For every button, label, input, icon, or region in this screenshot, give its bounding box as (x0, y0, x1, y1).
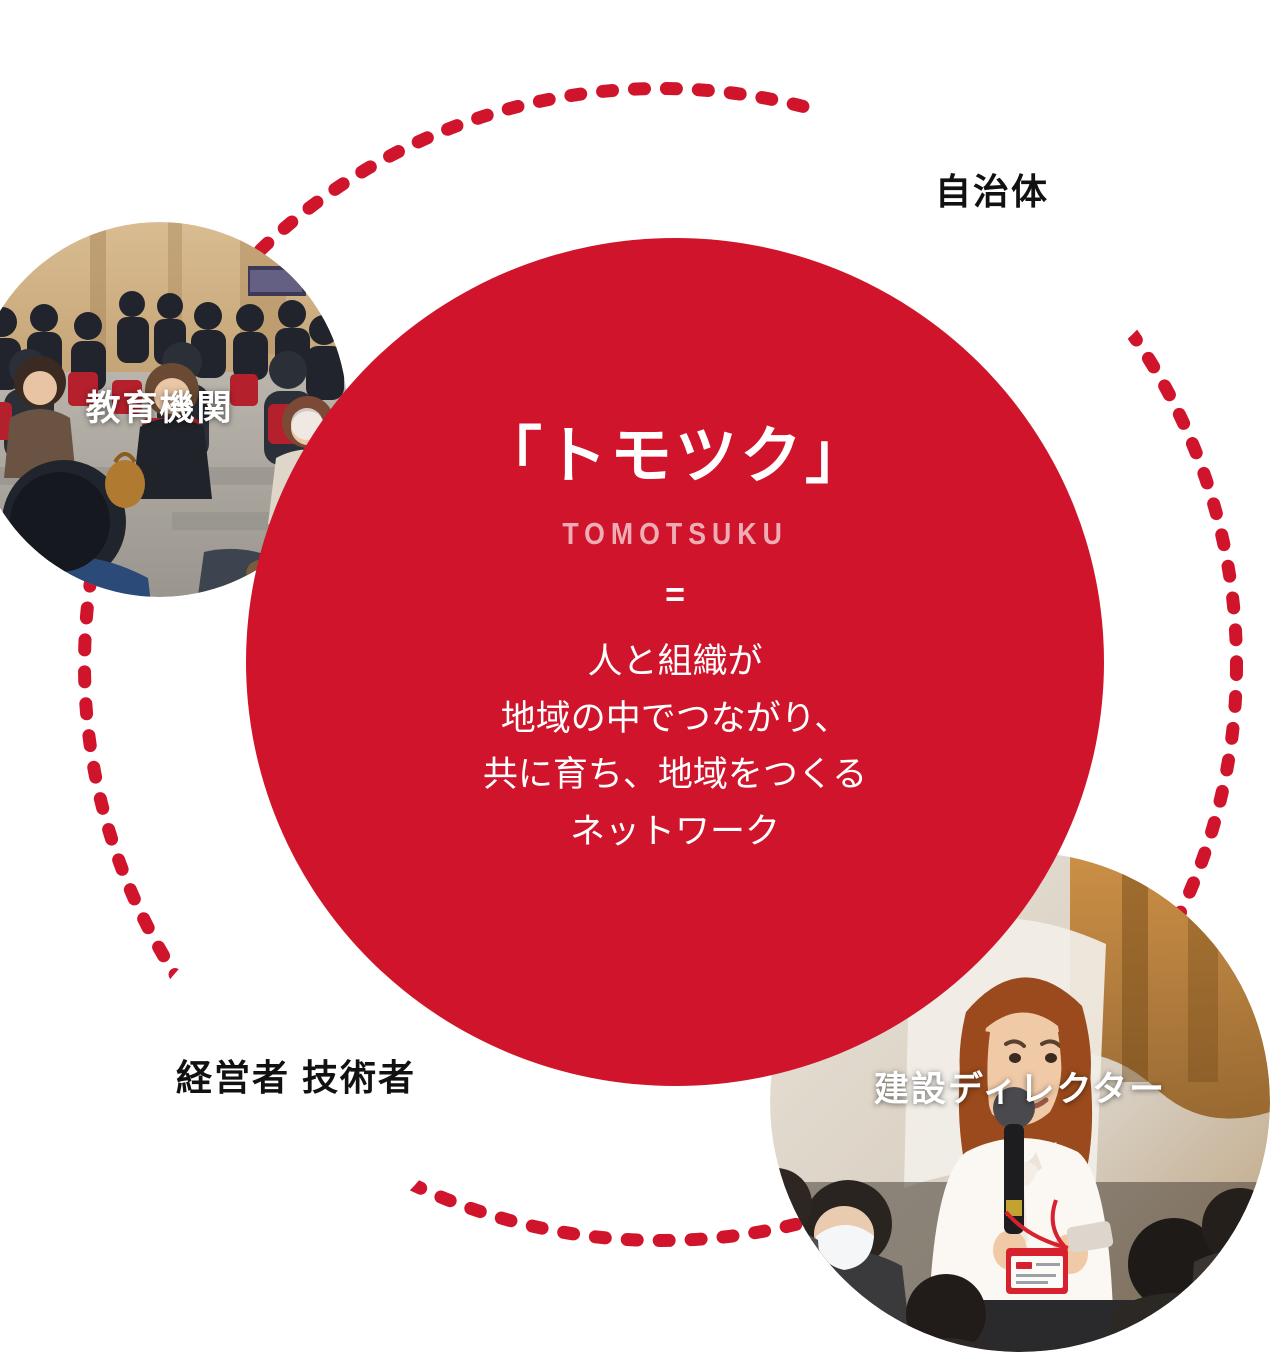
main-concept-circle: 「トモツク」 TOMOTSUKU = 人と組織が 地域の中でつながり、 共に育ち… (246, 238, 1104, 1086)
node-label-keieisha-line1: 経営者 (176, 1057, 290, 1098)
concept-description-line-1: 人と組織が (483, 634, 867, 691)
tomotsuku-network-diagram: 自治体 経営者 技術者 (0, 0, 1270, 1358)
node-label-keieisha: 経営者 技術者 (176, 1054, 416, 1102)
brand-title: 「トモツク」 (480, 426, 870, 488)
equals-separator: = (665, 578, 685, 612)
node-label-keieisha-line2: 技術者 (302, 1057, 416, 1098)
concept-description: 人と組織が 地域の中でつながり、 共に育ち、地域をつくる ネットワーク (483, 634, 867, 861)
brand-romanization: TOMOTSUKU (562, 516, 787, 552)
node-label-kensetsu: 建設ディレクター (770, 1067, 1270, 1113)
node-label-kyoiku: 教育機関 (85, 386, 233, 432)
concept-description-line-3: 共に育ち、地域をつくる (483, 747, 867, 804)
node-label-jichitai: 自治体 (935, 168, 1049, 216)
concept-description-line-2: 地域の中でつながり、 (483, 691, 867, 748)
concept-description-line-4: ネットワーク (483, 804, 867, 861)
